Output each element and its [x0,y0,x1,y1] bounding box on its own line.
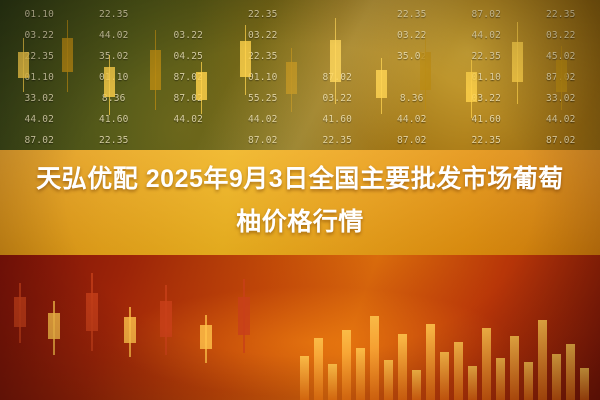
news-thumbnail-image: 01.1022.3522.3522.3587.0222.3503.2244.02… [0,0,600,400]
chart-bar [580,368,589,400]
brand-name: 天弘优配 [36,165,138,193]
candlestick [420,34,431,110]
candlestick [512,22,523,104]
candle-body [556,60,567,92]
chart-bar [482,328,491,400]
chart-bar [454,342,463,400]
chart-bar [496,358,505,400]
candle-body [62,38,73,72]
chart-bar [468,366,477,400]
candlestick-layer-top [0,0,600,150]
chart-bar [314,338,323,400]
chart-bar [342,330,351,400]
candle-body [104,67,115,97]
candle-body [18,52,29,78]
chart-bar [412,370,421,400]
headline-text: 天弘优配 2025年9月3日全国主要批发市场葡萄柚价格行情 [0,158,600,244]
chart-bar [328,364,337,400]
background-top-band: 01.1022.3522.3522.3587.0222.3503.2244.02… [0,0,600,150]
candlestick [556,46,567,110]
chart-bar [426,324,435,400]
candle-body [466,72,477,102]
candlestick [330,18,341,104]
candlestick [62,20,73,92]
chart-bar [510,336,519,400]
chart-bar [538,320,547,400]
candle-body [286,62,297,94]
candle-body [376,70,387,98]
candlestick [104,55,115,115]
candle-body [512,42,523,82]
candle-body [330,40,341,82]
bar-chart-layer [0,255,600,400]
chart-bar [370,316,379,400]
candlestick [150,30,161,110]
candlestick [376,58,387,114]
headline-title: 2025年9月3日全国主要批发市场葡萄柚价格行情 [146,165,564,236]
chart-bar [552,354,561,400]
candle-body [150,50,161,90]
candlestick [196,62,207,114]
chart-bar [440,352,449,400]
candlestick [286,48,297,112]
candle-body [240,41,251,77]
chart-bar [356,348,365,400]
chart-bar [384,360,393,400]
candlestick [18,38,29,92]
candlestick [466,60,477,118]
background-bottom-band [0,255,600,400]
chart-bar [300,356,309,400]
candle-body [420,52,431,90]
chart-bar [524,362,533,400]
chart-bar [566,344,575,400]
candlestick [240,25,251,95]
candle-body [196,72,207,100]
chart-bar [398,334,407,400]
